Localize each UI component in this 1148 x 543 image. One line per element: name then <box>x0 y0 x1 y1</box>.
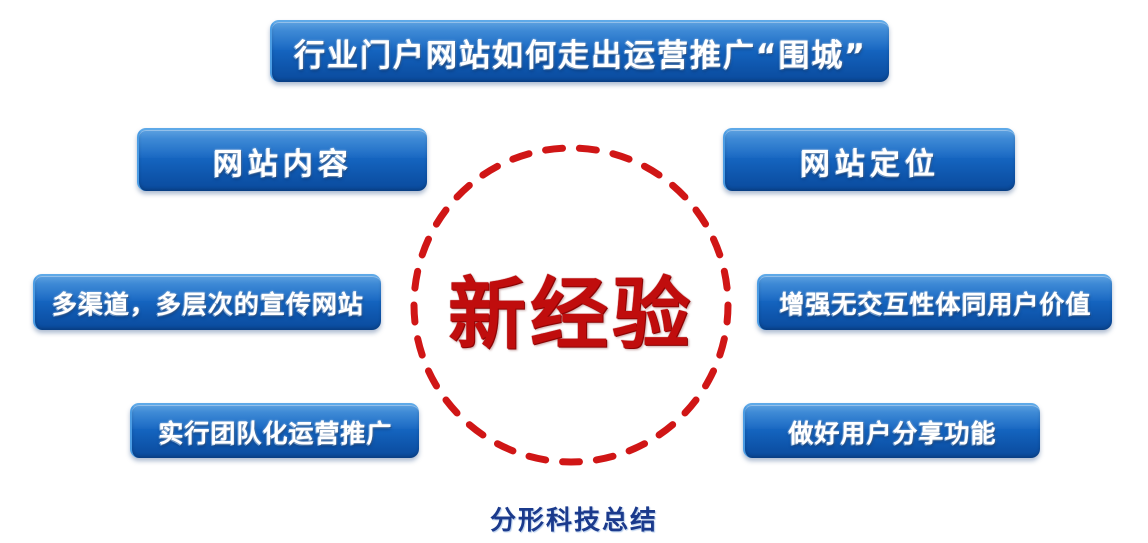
box-share-feature-label: 做好用户分享功能 <box>788 414 996 450</box>
box-interaction-label: 增强无交互性体同用户价值 <box>779 285 1091 321</box>
box-website-content-label: 网站内容 <box>213 139 353 183</box>
center-keyword: 新经验 <box>409 255 733 360</box>
title-banner-label: 行业门户网站如何走出运营推广“围城” <box>294 30 867 75</box>
slide-canvas: 行业门户网站如何走出运营推广“围城” 网站内容 网站定位 多渠道，多层次的宣传网… <box>0 0 1148 543</box>
box-team-operation-label: 实行团队化运营推广 <box>158 414 392 450</box>
center-keyword-label: 新经验 <box>448 252 694 364</box>
footer-caption-label: 分形科技总结 <box>490 506 658 536</box>
box-website-position[interactable]: 网站定位 <box>723 128 1015 191</box>
title-banner[interactable]: 行业门户网站如何走出运营推广“围城” <box>270 20 889 82</box>
footer-caption: 分形科技总结 <box>0 500 1148 537</box>
box-website-content[interactable]: 网站内容 <box>137 128 427 191</box>
box-website-position-label: 网站定位 <box>800 139 940 183</box>
box-multi-channel[interactable]: 多渠道，多层次的宣传网站 <box>33 274 381 330</box>
box-share-feature[interactable]: 做好用户分享功能 <box>743 403 1040 458</box>
box-interaction[interactable]: 增强无交互性体同用户价值 <box>757 274 1112 330</box>
box-team-operation[interactable]: 实行团队化运营推广 <box>130 403 419 458</box>
box-multi-channel-label: 多渠道，多层次的宣传网站 <box>52 285 364 321</box>
